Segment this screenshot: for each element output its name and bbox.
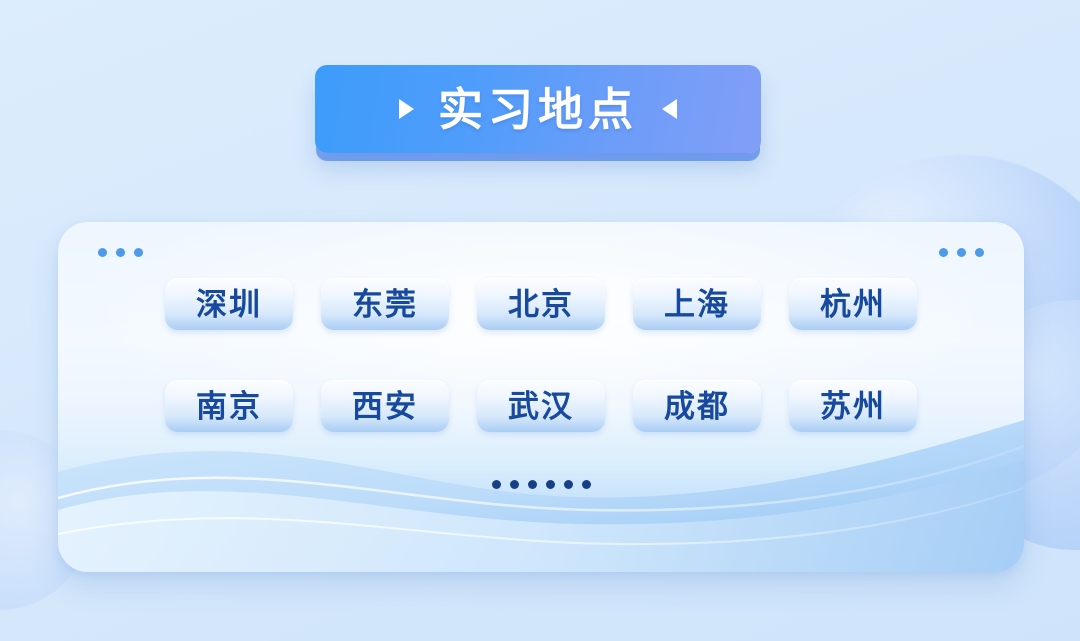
- triangle-left-icon: [662, 99, 677, 119]
- city-tag-hangzhou[interactable]: 杭州: [789, 278, 917, 330]
- city-tag-nanjing[interactable]: 南京: [165, 380, 293, 432]
- city-tag-label: 杭州: [820, 289, 886, 320]
- triangle-right-icon: [399, 99, 414, 119]
- city-tag-label: 南京: [196, 391, 262, 422]
- dot-icon: [98, 248, 107, 257]
- card-dots-top-right: [939, 248, 984, 257]
- dot-icon: [975, 248, 984, 257]
- city-tag-chengdu[interactable]: 成都: [633, 380, 761, 432]
- city-tag-label: 成都: [664, 391, 730, 422]
- dot-icon: [939, 248, 948, 257]
- dot-icon: [957, 248, 966, 257]
- city-tag-shanghai[interactable]: 上海: [633, 278, 761, 330]
- city-tag-label: 深圳: [196, 289, 262, 320]
- city-tag-suzhou[interactable]: 苏州: [789, 380, 917, 432]
- page-title-banner: 实习地点: [315, 65, 761, 153]
- city-tag-label: 上海: [664, 289, 730, 320]
- city-tag-beijing[interactable]: 北京: [477, 278, 605, 330]
- city-tag-xian[interactable]: 西安: [321, 380, 449, 432]
- ellipsis-dot-icon: [564, 480, 573, 489]
- city-tag-label: 苏州: [820, 391, 886, 422]
- ellipsis-dot-icon: [546, 480, 555, 489]
- city-tag-label: 北京: [508, 289, 574, 320]
- city-list-card: 深圳 东莞 北京 上海 杭州 南京: [58, 222, 1024, 572]
- ellipsis-dot-icon: [510, 480, 519, 489]
- ellipsis-dot-icon: [492, 480, 501, 489]
- more-cities-ellipsis: [58, 480, 1024, 489]
- card-dots-top-left: [98, 248, 143, 257]
- page-root: 实习地点: [0, 0, 1080, 641]
- dot-icon: [116, 248, 125, 257]
- city-tag-label: 西安: [352, 391, 418, 422]
- city-tag-dongguan[interactable]: 东莞: [321, 278, 449, 330]
- ellipsis-dot-icon: [582, 480, 591, 489]
- city-tag-wuhan[interactable]: 武汉: [477, 380, 605, 432]
- city-tag-shenzhen[interactable]: 深圳: [165, 278, 293, 330]
- ellipsis-dot-icon: [528, 480, 537, 489]
- dot-icon: [134, 248, 143, 257]
- city-rows: 深圳 东莞 北京 上海 杭州 南京: [58, 278, 1024, 482]
- city-row-1: 深圳 东莞 北京 上海 杭州: [58, 278, 1024, 330]
- city-tag-label: 东莞: [352, 289, 418, 320]
- city-tag-label: 武汉: [508, 391, 574, 422]
- page-title: 实习地点: [438, 87, 638, 132]
- city-row-2: 南京 西安 武汉 成都 苏州: [58, 380, 1024, 432]
